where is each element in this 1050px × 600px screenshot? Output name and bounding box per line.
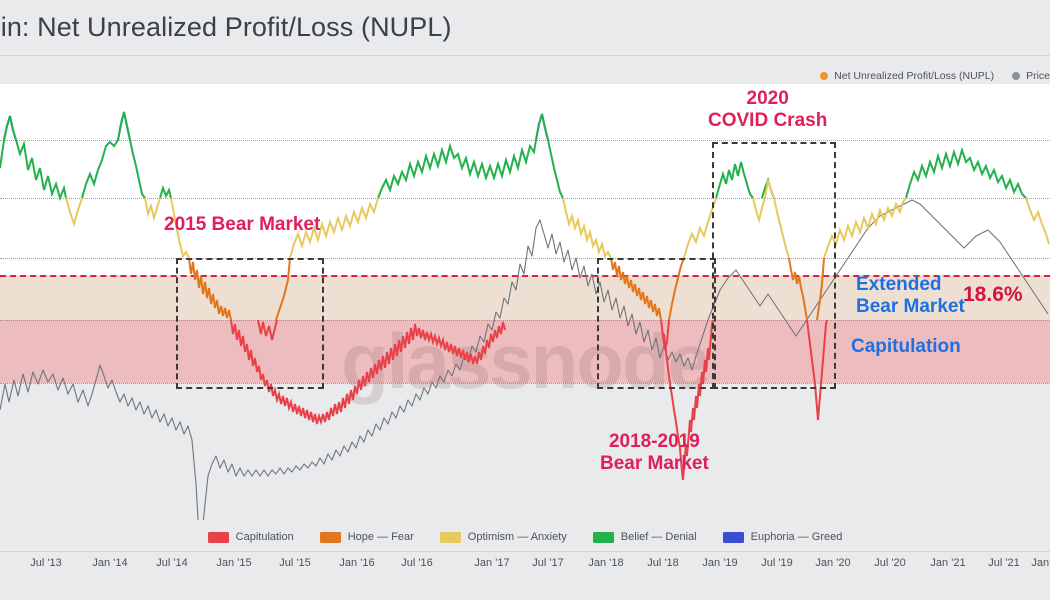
- nupl-belief-segments: [0, 112, 1026, 198]
- annotation-line-2: Bear Market: [856, 296, 965, 318]
- zone-legend-item-optimism-anxiety[interactable]: Optimism — Anxiety: [440, 531, 567, 543]
- x-axis: Jul '13Jan '14Jul '14Jan '15Jul '15Jan '…: [0, 552, 1050, 582]
- zone-legend-label: Euphoria — Greed: [751, 531, 843, 543]
- zone-legend-label: Hope — Fear: [348, 531, 414, 543]
- xaxis-tick-label: Jul '14: [156, 557, 187, 569]
- price-legend-dot: [1012, 72, 1020, 80]
- hope-fear-swatch: [320, 532, 341, 543]
- xaxis-tick-label: Jan '18: [588, 557, 623, 569]
- price-line: [0, 200, 1048, 520]
- xaxis-tick-label: Jul '21: [988, 557, 1019, 569]
- annotation-box-2020-covid: [712, 142, 836, 389]
- annotation-2020-covid-crash: 2020 COVID Crash: [708, 88, 827, 132]
- annotation-current-value: 18.6%: [963, 283, 1023, 307]
- belief-denial-swatch: [593, 532, 614, 543]
- xaxis-tick-label: Jul '13: [30, 557, 61, 569]
- annotation-capitulation-zone: Capitulation: [851, 336, 961, 358]
- xaxis-tick-label: Jul '16: [401, 557, 432, 569]
- xaxis-tick-label: Jul '15: [279, 557, 310, 569]
- annotation-line-2: COVID Crash: [708, 110, 827, 132]
- legend-item-nupl[interactable]: Net Unrealized Profit/Loss (NUPL): [820, 70, 994, 82]
- xaxis-tick-label: Jan '22: [1031, 557, 1050, 569]
- zone-legend-item-hope-fear[interactable]: Hope — Fear: [320, 531, 414, 543]
- xaxis-tick-label: Jan '19: [702, 557, 737, 569]
- legend-item-label: Net Unrealized Profit/Loss (NUPL): [834, 70, 994, 82]
- xaxis-tick-label: Jan '16: [339, 557, 374, 569]
- annotation-box-2015-bear: [176, 258, 324, 389]
- xaxis-tick-label: Jul '18: [647, 557, 678, 569]
- xaxis-tick-label: Jul '20: [874, 557, 905, 569]
- nupl-legend-dot: [820, 72, 828, 80]
- chart-screenshot: coin: Net Unrealized Profit/Loss (NUPL) …: [0, 0, 1050, 600]
- zone-legend-item-belief-denial[interactable]: Belief — Denial: [593, 531, 697, 543]
- title-divider: [0, 55, 1050, 56]
- zone-legend: Capitulation Hope — Fear Optimism — Anxi…: [0, 527, 1050, 547]
- annotation-line-1: Extended: [856, 274, 965, 296]
- xaxis-tick-label: Jan '17: [474, 557, 509, 569]
- zone-legend-item-capitulation[interactable]: Capitulation: [208, 531, 294, 543]
- annotation-box-2018-2019-bear: [597, 258, 716, 389]
- annotation-line-1: 2020: [708, 88, 827, 110]
- zone-legend-label: Capitulation: [236, 531, 294, 543]
- xaxis-tick-label: Jul '17: [532, 557, 563, 569]
- annotation-label: 2015 Bear Market: [164, 214, 320, 235]
- annotation-label: Capitulation: [851, 336, 961, 357]
- current-value-label: 18.6%: [963, 283, 1023, 306]
- annotation-line-1: 2018-2019: [600, 431, 709, 453]
- xaxis-tick-label: Jan '21: [930, 557, 965, 569]
- zone-legend-item-euphoria-greed[interactable]: Euphoria — Greed: [723, 531, 843, 543]
- xaxis-tick-label: Jan '20: [815, 557, 850, 569]
- annotation-2018-2019-bear-market: 2018-2019 Bear Market: [600, 431, 709, 475]
- euphoria-greed-swatch: [723, 532, 744, 543]
- zone-legend-label: Belief — Denial: [621, 531, 697, 543]
- annotation-extended-bear-market: Extended Bear Market: [856, 274, 965, 318]
- capitulation-swatch: [208, 532, 229, 543]
- legend-item-price[interactable]: Price: [1012, 70, 1050, 82]
- legend-item-label: Price: [1026, 70, 1050, 82]
- zone-legend-label: Optimism — Anxiety: [468, 531, 567, 543]
- series-legend: Net Unrealized Profit/Loss (NUPL) Price: [820, 68, 1050, 84]
- nupl-euphoria-segments: [4, 112, 548, 140]
- title-bar: coin: Net Unrealized Profit/Loss (NUPL): [0, 0, 1050, 55]
- page-title: coin: Net Unrealized Profit/Loss (NUPL): [0, 12, 452, 43]
- xaxis-tick-label: Jul '19: [761, 557, 792, 569]
- annotation-line-2: Bear Market: [600, 453, 709, 475]
- annotation-2015-bear-market: 2015 Bear Market: [164, 214, 320, 236]
- optimism-anxiety-swatch: [440, 532, 461, 543]
- footer-fill: [0, 582, 1050, 600]
- xaxis-tick-label: Jan '15: [216, 557, 251, 569]
- xaxis-tick-label: Jan '14: [92, 557, 127, 569]
